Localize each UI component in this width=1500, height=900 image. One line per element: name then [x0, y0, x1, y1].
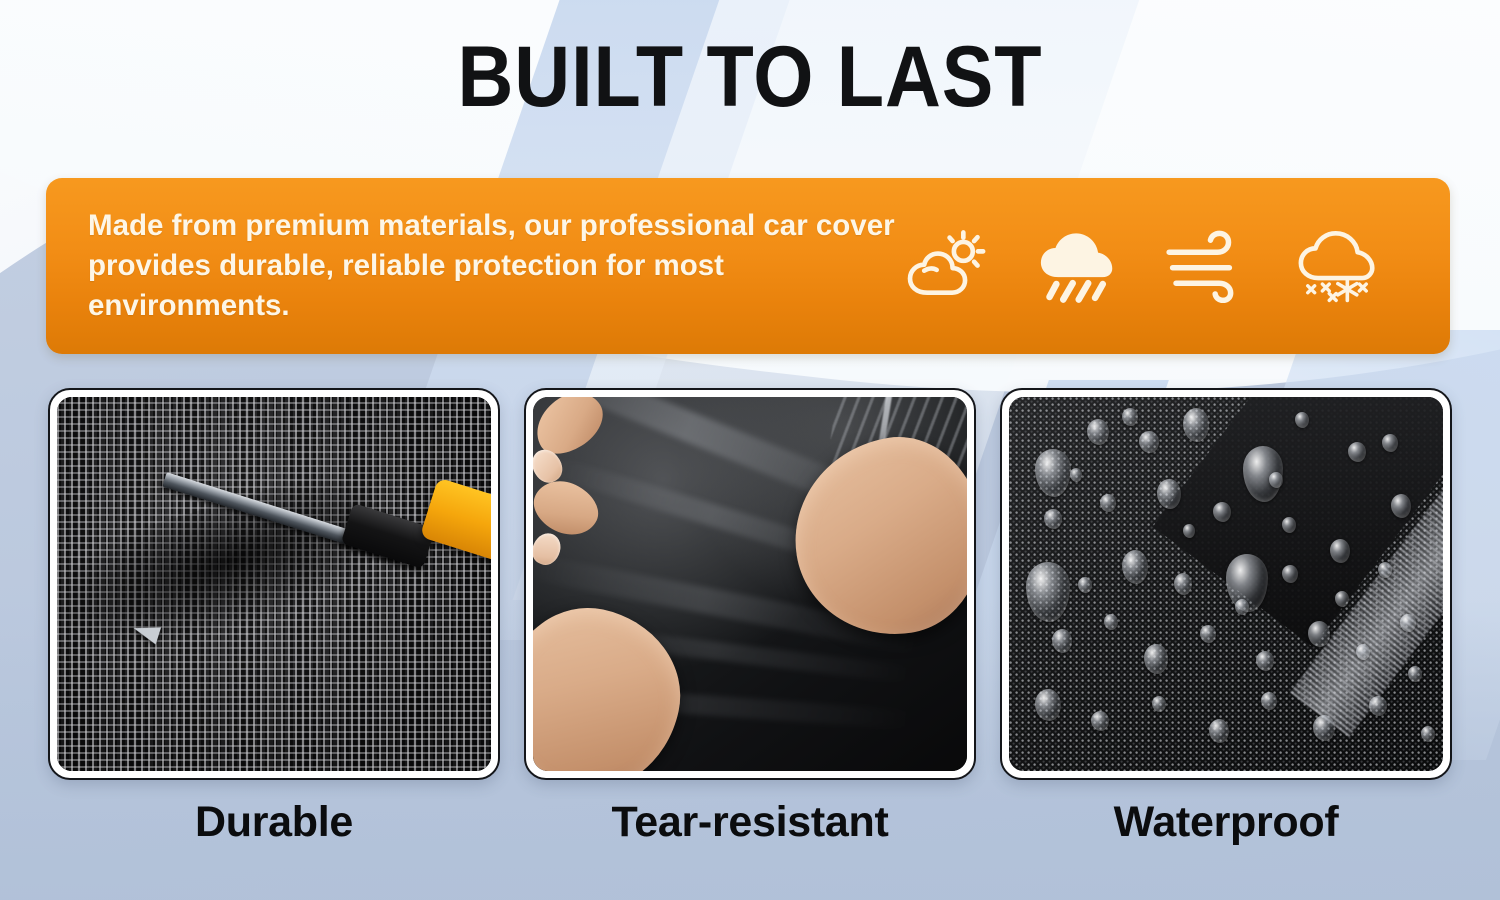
water-droplet: [1209, 719, 1229, 743]
hands-stretching-cover-photo: [524, 388, 976, 780]
feature-card-waterproof: Waterproof: [1000, 388, 1452, 847]
water-droplet: [1100, 494, 1116, 512]
feature-card-tear-resistant: Tear-resistant: [524, 388, 976, 847]
water-droplet: [1213, 502, 1231, 522]
page-title: BUILT TO LAST: [75, 34, 1425, 120]
weather-icon-group: [904, 229, 1416, 303]
water-droplet: [1035, 689, 1061, 721]
sun-behind-cloud-icon: [904, 229, 990, 303]
water-droplet: [1174, 573, 1192, 595]
feature-caption-waterproof: Waterproof: [1000, 798, 1452, 847]
infographic-canvas: BUILT TO LAST Made from premium material…: [0, 0, 1500, 900]
photo-frame: [533, 397, 967, 771]
photo-frame: [1009, 397, 1443, 771]
description-banner: Made from premium materials, our profess…: [46, 178, 1450, 354]
water-droplet: [1356, 644, 1370, 660]
banner-description-text: Made from premium materials, our profess…: [88, 206, 904, 326]
water-droplet: [1282, 517, 1296, 533]
water-droplet: [1183, 524, 1195, 538]
water-droplet: [1348, 442, 1366, 462]
water-droplet: [1369, 696, 1387, 716]
snow-cloud-icon: [1294, 229, 1380, 303]
water-droplet: [1070, 468, 1082, 482]
woven-fabric-screwdriver-photo: [48, 388, 500, 780]
water-droplet: [1044, 509, 1062, 529]
water-droplet: [1235, 599, 1249, 615]
water-droplet: [1144, 644, 1168, 674]
water-droplet: [1122, 408, 1138, 426]
water-droplet: [1200, 625, 1216, 643]
water-droplet: [1269, 472, 1283, 488]
feature-card-durable: Durable: [48, 388, 500, 847]
water-droplet: [1313, 715, 1335, 741]
water-droplet: [1391, 494, 1411, 518]
feature-caption-durable: Durable: [48, 798, 500, 847]
rain-cloud-icon: [1034, 229, 1120, 303]
water-droplet: [1052, 629, 1072, 653]
feature-caption-tear-resistant: Tear-resistant: [524, 798, 976, 847]
feature-card-row: Durable: [0, 388, 1500, 847]
wind-icon: [1164, 229, 1250, 303]
water-droplet: [1087, 419, 1109, 445]
water-droplet: [1139, 431, 1159, 453]
water-beading-fabric-photo: [1000, 388, 1452, 780]
water-droplet: [1078, 577, 1092, 593]
water-droplet: [1378, 562, 1392, 578]
water-droplet: [1400, 614, 1416, 632]
photo-frame: [57, 397, 491, 771]
water-droplet: [1330, 539, 1350, 563]
